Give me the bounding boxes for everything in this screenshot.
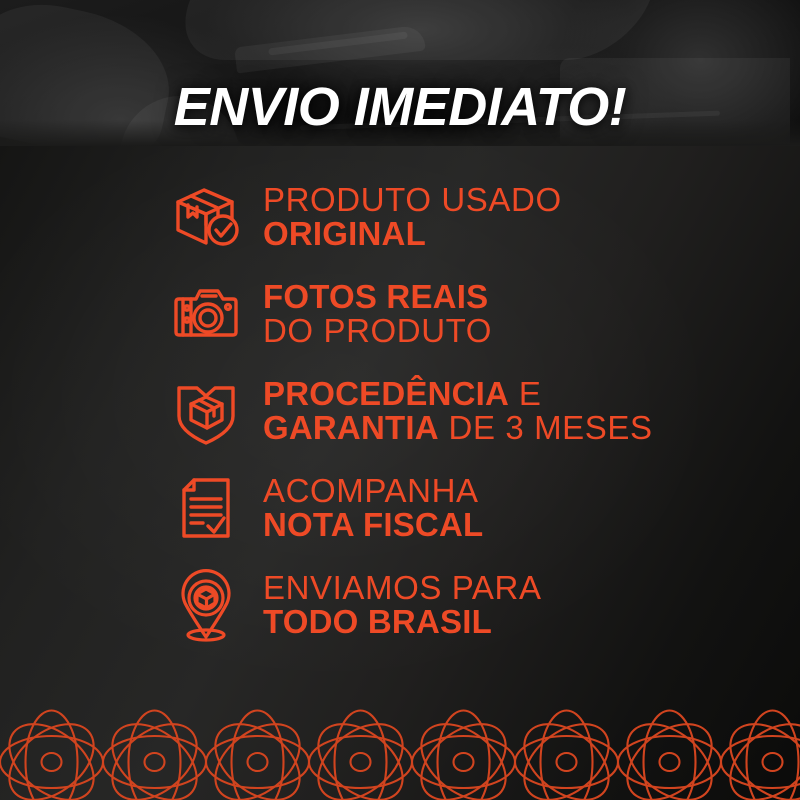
feature-list: PRODUTO USADO ORIGINAL: [0, 168, 800, 653]
camera-icon: [163, 271, 249, 357]
feature-row: FOTOS REAIS DO PRODUTO: [0, 265, 800, 362]
feature-line-light-part: DE 3 MESES: [439, 409, 653, 446]
package-box-check-icon: [163, 174, 249, 260]
feature-line-bold-part: GARANTIA: [263, 409, 439, 446]
invoice-document-check-icon: [163, 465, 249, 551]
shield-box-icon: [163, 368, 249, 454]
feature-text: FOTOS REAIS DO PRODUTO: [263, 280, 492, 347]
feature-line-primary: PRODUTO USADO: [263, 183, 562, 217]
feature-line-secondary: DO PRODUTO: [263, 314, 492, 348]
feature-text: PRODUTO USADO ORIGINAL: [263, 183, 562, 250]
banner-title: ENVIO IMEDIATO!: [0, 78, 800, 136]
feature-line-secondary: ORIGINAL: [263, 217, 562, 251]
map-pin-package-icon: [163, 562, 249, 648]
feature-line-primary: FOTOS REAIS: [263, 280, 492, 314]
feature-line-secondary: TODO BRASIL: [263, 605, 542, 639]
feature-row: ENVIAMOS PARA TODO BRASIL: [0, 556, 800, 653]
feature-line-light-part: E: [509, 375, 541, 412]
feature-line-primary: PROCEDÊNCIA E: [263, 377, 653, 411]
orange-geometric-floral-border: [0, 700, 800, 800]
feature-row: ACOMPANHA NOTA FISCAL: [0, 459, 800, 556]
feature-text: ACOMPANHA NOTA FISCAL: [263, 474, 483, 541]
feature-line-bold-part: PROCEDÊNCIA: [263, 375, 509, 412]
promotional-banner: ENVIO IMEDIATO! PRODUTO USADO: [0, 0, 800, 800]
feature-text: ENVIAMOS PARA TODO BRASIL: [263, 571, 542, 638]
feature-line-secondary: GARANTIA DE 3 MESES: [263, 411, 653, 445]
feature-row: PROCEDÊNCIA E GARANTIA DE 3 MESES: [0, 362, 800, 459]
feature-line-secondary: NOTA FISCAL: [263, 508, 483, 542]
feature-row: PRODUTO USADO ORIGINAL: [0, 168, 800, 265]
feature-line-primary: ENVIAMOS PARA: [263, 571, 542, 605]
feature-line-primary: ACOMPANHA: [263, 474, 483, 508]
feature-text: PROCEDÊNCIA E GARANTIA DE 3 MESES: [263, 377, 653, 444]
